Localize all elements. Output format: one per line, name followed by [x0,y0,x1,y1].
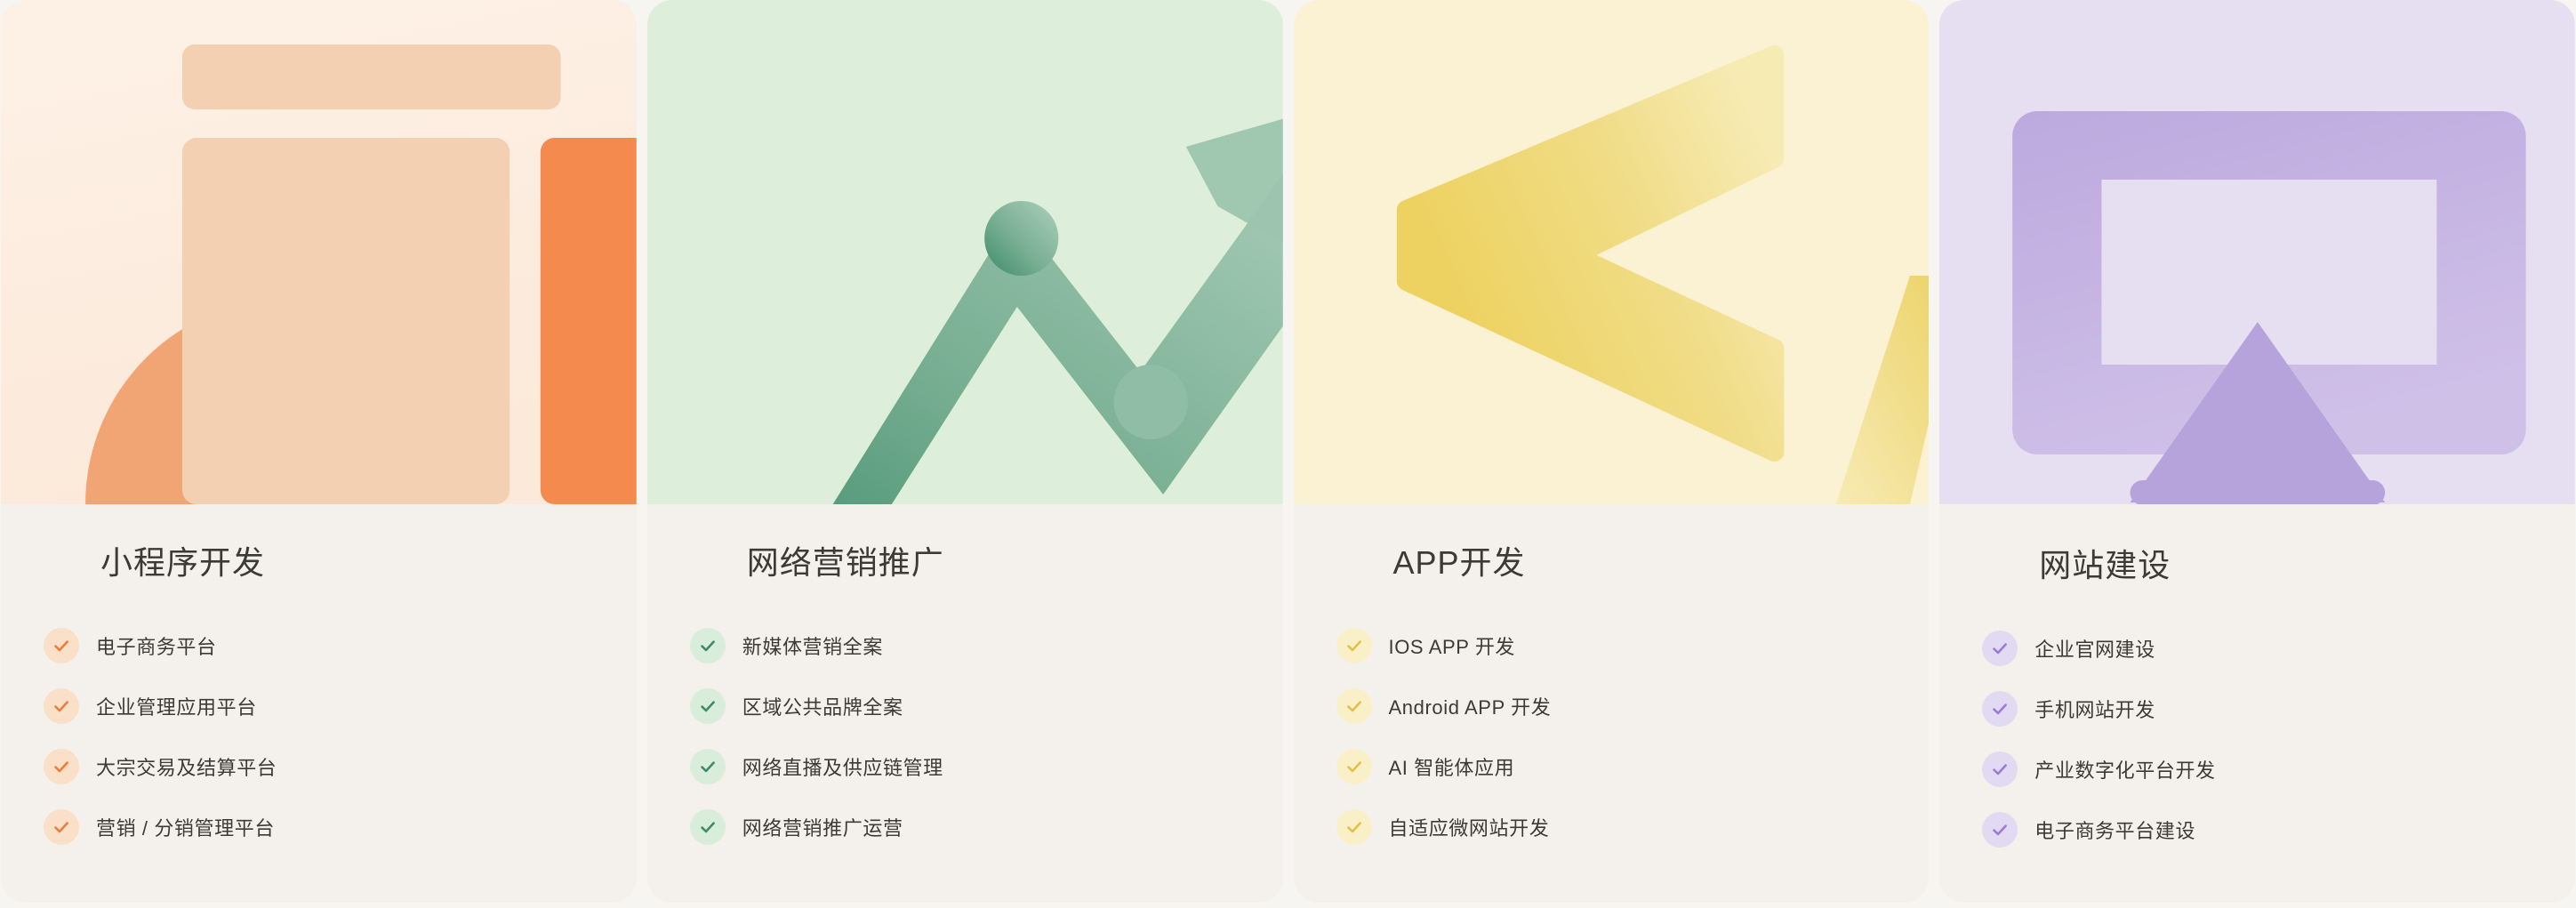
list-item-label: 电子商务平台 [96,631,217,660]
check-icon [1336,749,1372,784]
card-body: 网络营销推广 新媒体营销全案 区域公共品牌全案 [647,504,1283,903]
check-icon [690,628,726,663]
list-item[interactable]: 企业管理应用平台 [44,676,637,736]
list-item[interactable]: 手机网站开发 [1982,679,2575,739]
check-icon [44,809,79,845]
check-icon [1982,691,2018,727]
app-development-illustration [1294,0,1930,504]
list-item-label: 大宗交易及结算平台 [96,752,277,781]
feature-list: IOS APP 开发 Android APP 开发 AI 智能体应用 [1336,615,1930,857]
check-icon [690,749,726,784]
list-item[interactable]: 自适应微网站开发 [1336,797,1930,857]
list-item[interactable]: 电子商务平台 [44,615,637,676]
check-icon [1982,631,2018,666]
service-cards-grid: 小程序开发 电子商务平台 企业管理应用平台 [0,0,2576,908]
list-item[interactable]: 网络直播及供应链管理 [690,736,1283,797]
network-marketing-illustration [647,0,1283,504]
check-icon [44,628,79,663]
list-item[interactable]: 营销 / 分销管理平台 [44,797,637,857]
list-item-label: 网络直播及供应链管理 [742,752,943,781]
page-title: 小程序开发 [100,543,637,582]
check-icon [44,688,79,724]
list-item[interactable]: 企业官网建设 [1982,618,2575,679]
card-body: 网站建设 企业官网建设 手机网站开发 [1939,504,2575,903]
check-icon [1336,809,1372,845]
list-item-label: AI 智能体应用 [1389,752,1515,781]
feature-list: 企业官网建设 手机网站开发 产业数字化平台开发 [1982,618,2575,860]
card-body: 小程序开发 电子商务平台 企业管理应用平台 [1,504,637,903]
feature-list: 电子商务平台 企业管理应用平台 大宗交易及结算平台 [44,615,637,857]
list-item-label: 手机网站开发 [2034,695,2155,723]
list-item[interactable]: 网络营销推广运营 [690,797,1283,857]
list-item[interactable]: 大宗交易及结算平台 [44,736,637,797]
check-icon [44,749,79,784]
list-item-label: 网络营销推广运营 [742,813,903,841]
service-card-website-construction[interactable]: 网站建设 企业官网建设 手机网站开发 [1939,0,2575,903]
list-item-label: 企业管理应用平台 [96,692,257,720]
check-icon [1982,812,2018,848]
list-item-label: Android APP 开发 [1389,692,1552,720]
page-title: 网站建设 [2039,546,2575,584]
mini-program-illustration [1,0,637,504]
list-item-label: IOS APP 开发 [1389,631,1516,660]
list-item[interactable]: AI 智能体应用 [1336,736,1930,797]
list-item-label: 自适应微网站开发 [1389,813,1550,841]
service-card-mini-program[interactable]: 小程序开发 电子商务平台 企业管理应用平台 [1,0,637,903]
service-card-network-marketing[interactable]: 网络营销推广 新媒体营销全案 区域公共品牌全案 [647,0,1283,903]
list-item-label: 区域公共品牌全案 [742,692,903,720]
check-icon [1982,751,2018,787]
check-icon [1336,688,1372,724]
website-construction-illustration [1939,0,2575,504]
list-item-label: 企业官网建设 [2034,634,2155,663]
list-item[interactable]: IOS APP 开发 [1336,615,1930,676]
check-icon [690,809,726,845]
list-item-label: 产业数字化平台开发 [2034,755,2215,783]
feature-list: 新媒体营销全案 区域公共品牌全案 网络直播及供应链管理 [690,615,1283,857]
page-title: 网络营销推广 [747,543,1283,582]
page-title: APP开发 [1393,543,1930,582]
check-icon [1336,628,1372,663]
check-icon [690,688,726,724]
card-body: APP开发 IOS APP 开发 Android APP 开发 [1294,504,1930,903]
list-item[interactable]: 新媒体营销全案 [690,615,1283,676]
list-item[interactable]: 电子商务平台建设 [1982,800,2575,860]
list-item-label: 新媒体营销全案 [742,631,883,660]
list-item[interactable]: 产业数字化平台开发 [1982,739,2575,800]
list-item[interactable]: 区域公共品牌全案 [690,676,1283,736]
list-item-label: 营销 / 分销管理平台 [96,813,275,841]
service-card-app-development[interactable]: APP开发 IOS APP 开发 Android APP 开发 [1294,0,1930,903]
list-item[interactable]: Android APP 开发 [1336,676,1930,736]
list-item-label: 电子商务平台建设 [2034,816,2195,844]
